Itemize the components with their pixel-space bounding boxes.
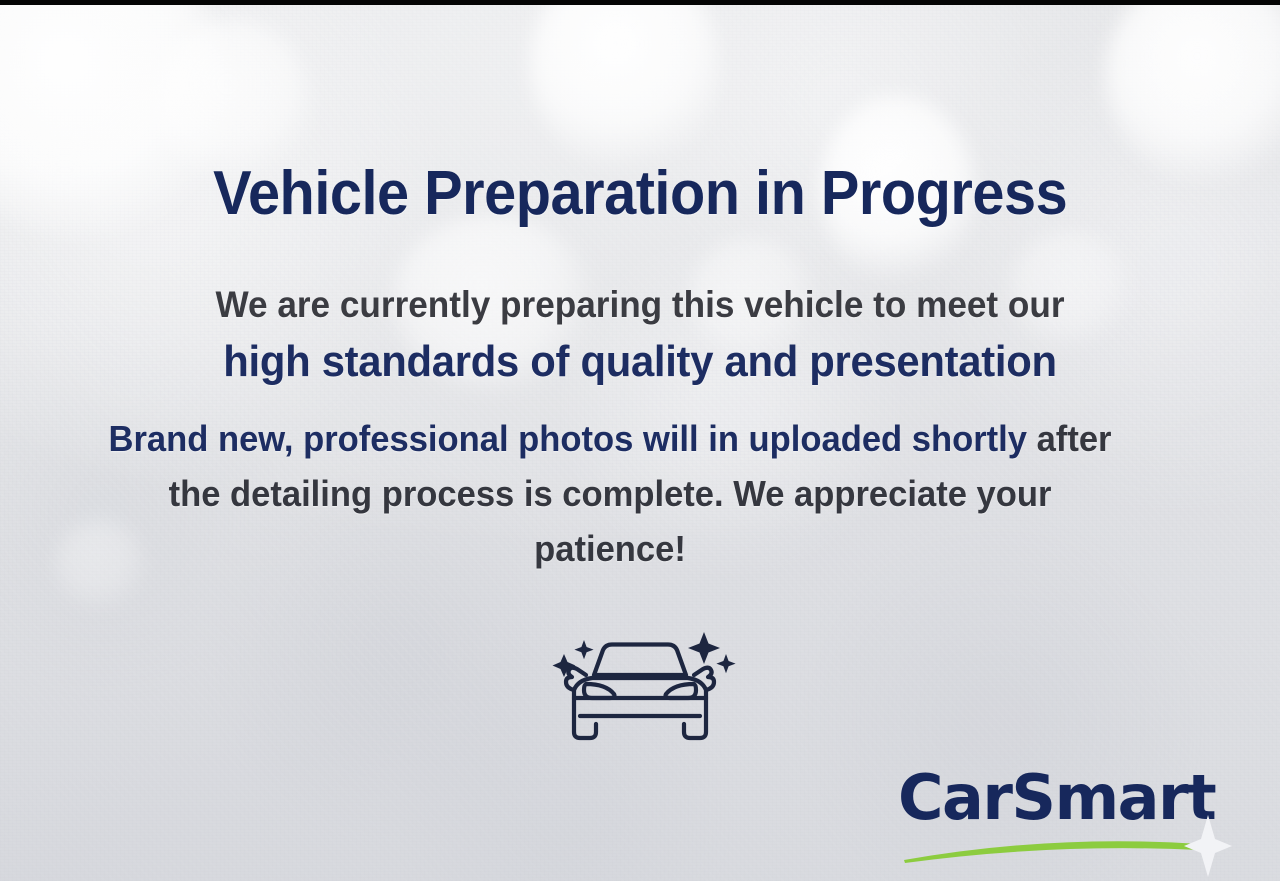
- paragraph-segment-navy: Brand new, professional photos will in u…: [109, 418, 1027, 459]
- body-copy: We are currently preparing this vehicle …: [80, 284, 1200, 576]
- logo-swoosh-icon: [902, 837, 1202, 863]
- page-title: Vehicle Preparation in Progress: [213, 162, 1067, 226]
- slide-canvas: Vehicle Preparation in Progress We are c…: [0, 0, 1280, 881]
- body-paragraph: Brand new, professional photos will in u…: [101, 412, 1119, 576]
- logo-wordmark: CarSmart: [898, 767, 1215, 829]
- sparkling-car-front-icon: [540, 620, 740, 752]
- logo-sparkle-icon: [1182, 813, 1234, 879]
- body-line-primary: We are currently preparing this vehicle …: [108, 284, 1172, 325]
- slide-content: Vehicle Preparation in Progress We are c…: [0, 0, 1280, 881]
- top-letterbox-bar: [0, 0, 1280, 5]
- brand-logo: CarSmart: [898, 767, 1228, 875]
- body-line-emphasis: high standards of quality and presentati…: [108, 338, 1172, 386]
